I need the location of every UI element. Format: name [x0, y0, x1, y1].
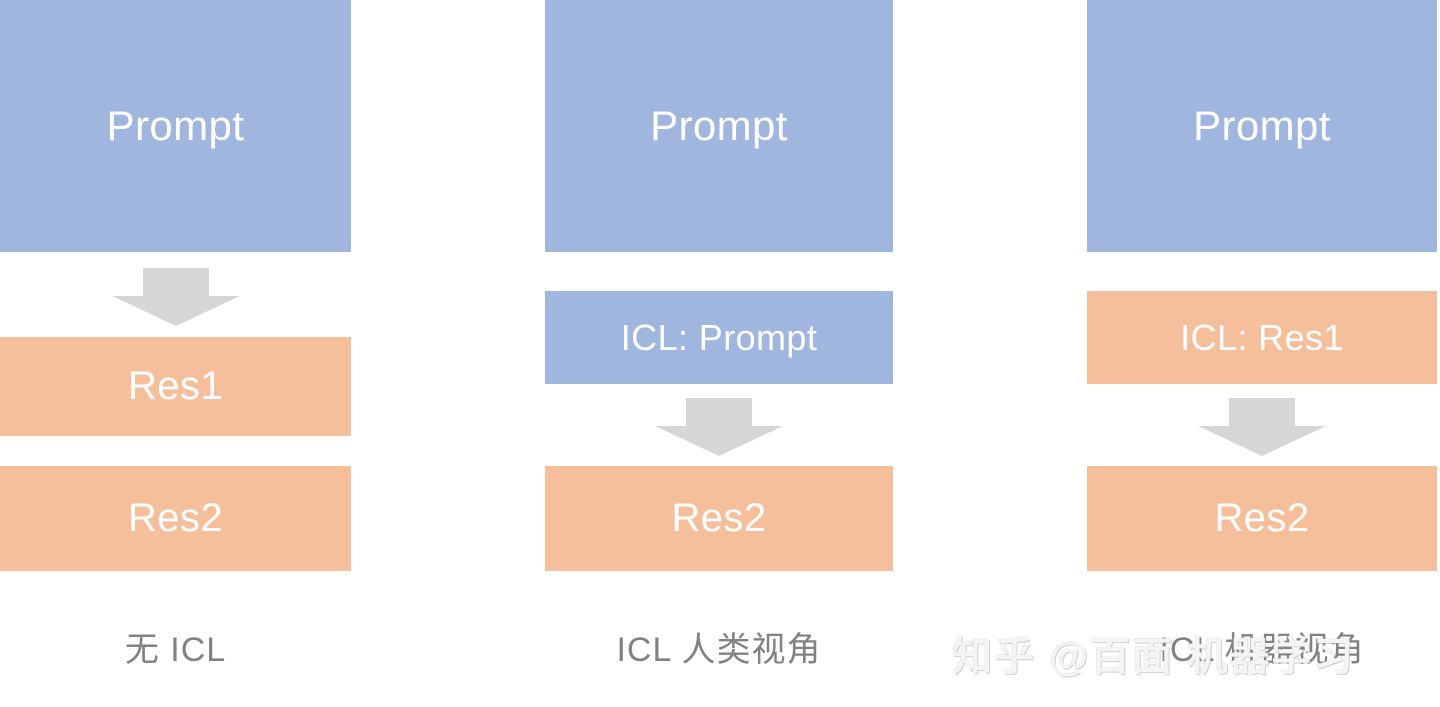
- diagram-column-no-icl: Prompt Res1 Res2 无 ICL: [0, 0, 351, 707]
- down-arrow-icon: [1198, 398, 1326, 456]
- prompt-box: Prompt: [1087, 0, 1437, 252]
- icl-prompt-box: ICL: Prompt: [545, 291, 893, 384]
- column-caption-icl-machine-view: ICL 机器视角: [1087, 622, 1437, 671]
- res2-box: Res2: [1087, 466, 1437, 571]
- prompt-box: Prompt: [0, 0, 351, 252]
- icl-res1-box: ICL: Res1: [1087, 291, 1437, 384]
- diagram-column-icl-human-view: Prompt ICL: Prompt Res2 ICL 人类视角: [545, 0, 893, 707]
- column-caption-icl-human-view: ICL 人类视角: [545, 622, 893, 671]
- down-arrow-icon: [112, 268, 240, 326]
- diagram-canvas: Prompt Res1 Res2 无 ICL Prompt ICL: Promp…: [0, 0, 1440, 707]
- res2-box: Res2: [0, 466, 351, 571]
- column-caption-no-icl: 无 ICL: [0, 622, 351, 671]
- res2-box: Res2: [545, 466, 893, 571]
- diagram-column-icl-machine-view: Prompt ICL: Res1 Res2 ICL 机器视角: [1087, 0, 1437, 707]
- down-arrow-icon: [655, 398, 783, 456]
- res1-box: Res1: [0, 337, 351, 436]
- prompt-box: Prompt: [545, 0, 893, 252]
